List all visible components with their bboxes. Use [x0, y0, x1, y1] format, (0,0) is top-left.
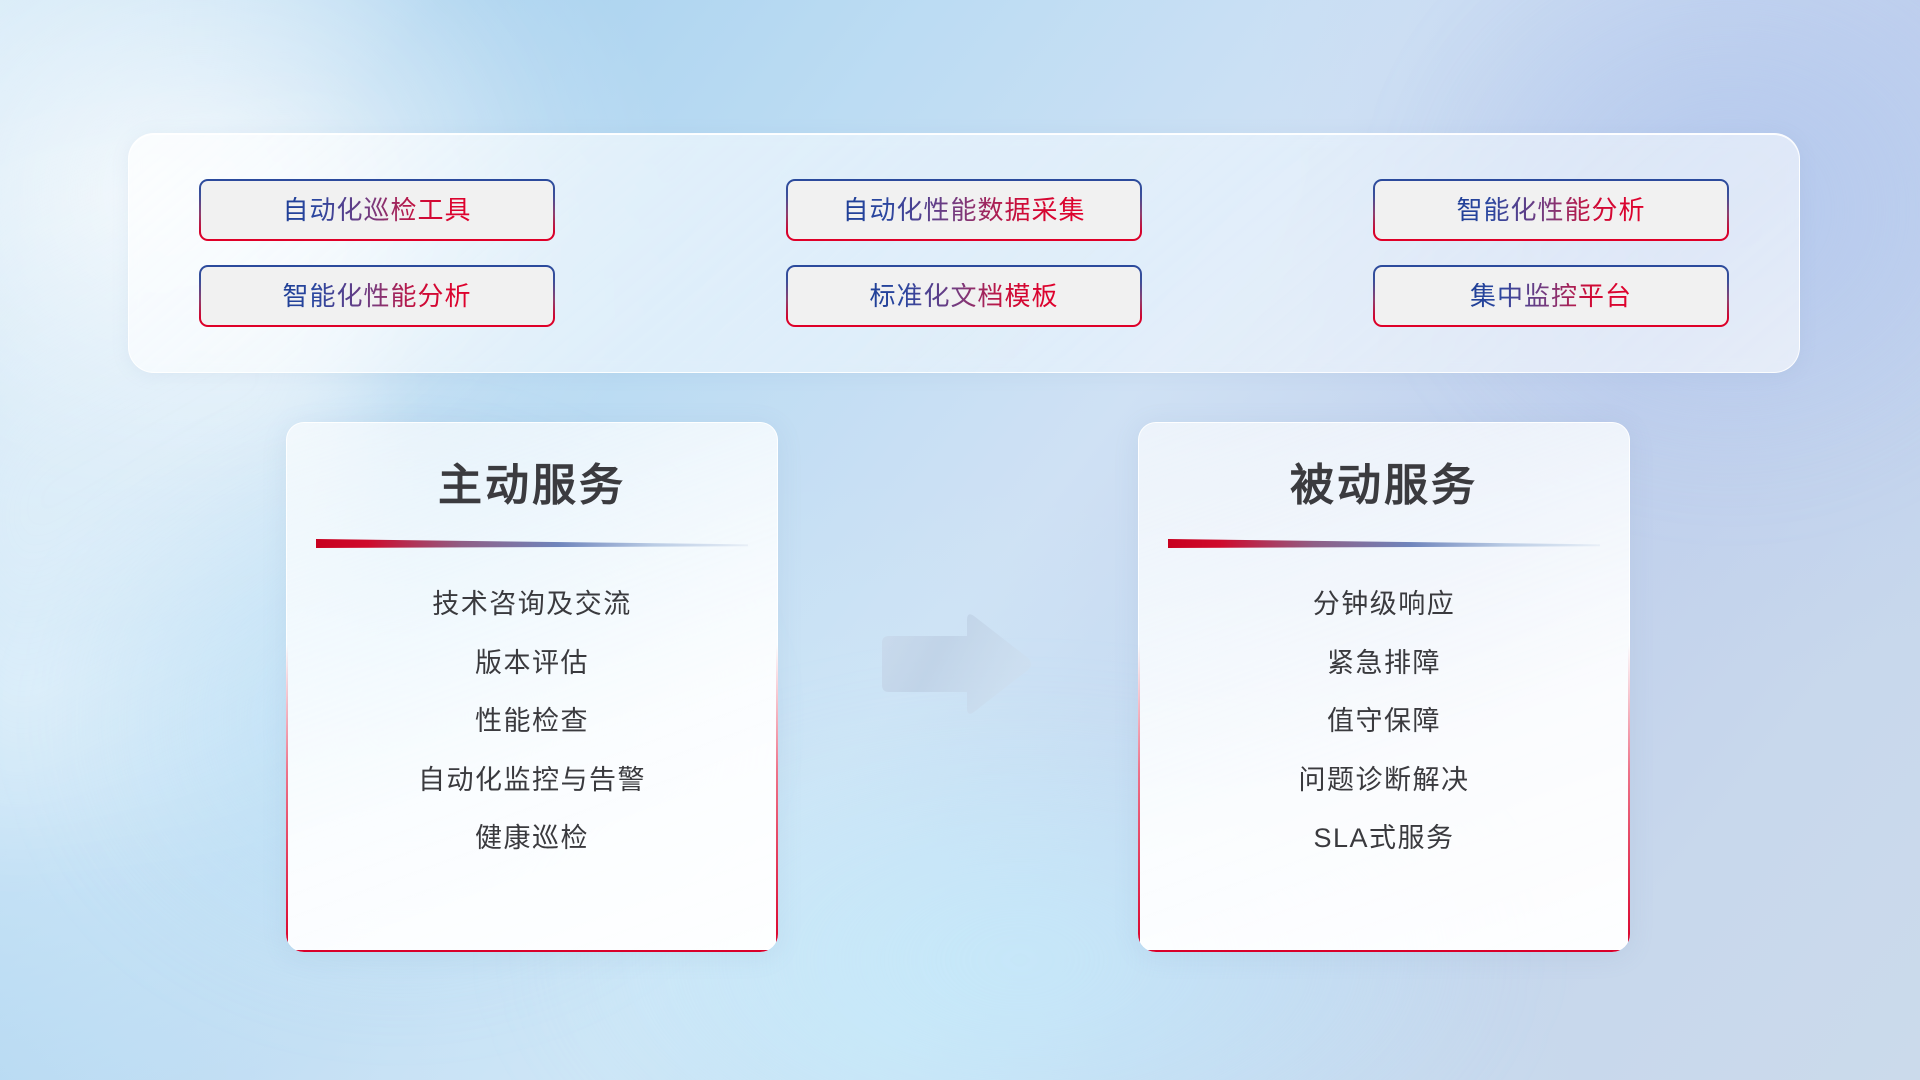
capability-tag-row-1: 自动化巡检工具 自动化性能数据采集 智能化性能分析 — [199, 179, 1729, 241]
service-card-title: 主动服务 — [438, 462, 626, 510]
service-item: 值守保障 — [1327, 705, 1441, 737]
service-card-proactive: 主动服务 技术咨询及交流 版本评估 性能检查 — [286, 422, 778, 952]
service-item: 问题诊断解决 — [1299, 764, 1470, 796]
title-divider-icon — [316, 536, 748, 550]
capability-tag-label: 自动化性能数据采集 — [842, 197, 1085, 223]
card-accent-edge-left — [286, 422, 288, 952]
service-item: 自动化监控与告警 — [418, 764, 646, 796]
card-accent-edge-bottom — [286, 950, 778, 952]
capability-tags-panel: 自动化巡检工具 自动化性能数据采集 智能化性能分析 智能化性能分析 标准化文档模… — [128, 133, 1800, 373]
capability-tag-label: 智能化性能分析 — [282, 283, 471, 309]
capability-tag-standard-document-template[interactable]: 标准化文档模板 — [786, 265, 1142, 327]
capability-tag-label: 自动化巡检工具 — [282, 197, 471, 223]
service-item: 分钟级响应 — [1313, 588, 1456, 620]
card-accent-edge-left — [1138, 422, 1140, 952]
arrow-right-icon — [874, 610, 1034, 720]
capability-tag-automated-performance-data-collection[interactable]: 自动化性能数据采集 — [786, 179, 1142, 241]
service-item: 版本评估 — [475, 647, 589, 679]
card-accent-edge-bottom — [1138, 950, 1630, 952]
card-accent-edge-right — [1628, 422, 1630, 952]
capability-tag-centralized-monitoring-platform[interactable]: 集中监控平台 — [1373, 265, 1729, 327]
service-item: 技术咨询及交流 — [432, 588, 632, 620]
capability-tag-label: 标准化文档模板 — [869, 283, 1058, 309]
service-card-title: 被动服务 — [1290, 462, 1478, 510]
service-item: 性能检查 — [475, 705, 589, 737]
title-divider-icon — [1168, 536, 1600, 550]
service-item: 健康巡检 — [475, 822, 589, 854]
service-item: SLA式服务 — [1313, 822, 1454, 854]
diagram-canvas: 自动化巡检工具 自动化性能数据采集 智能化性能分析 智能化性能分析 标准化文档模… — [0, 0, 1920, 1080]
service-item: 紧急排障 — [1327, 647, 1441, 679]
capability-tag-automated-inspection-tool[interactable]: 自动化巡检工具 — [199, 179, 555, 241]
service-item-list: 分钟级响应 紧急排障 值守保障 问题诊断解决 SLA式服务 — [1168, 588, 1600, 854]
capability-tag-row-2: 智能化性能分析 标准化文档模板 集中监控平台 — [199, 265, 1729, 327]
capability-tag-intelligent-performance-analysis-1[interactable]: 智能化性能分析 — [1373, 179, 1729, 241]
service-card-reactive: 被动服务 分钟级响应 紧急排障 值守保障 — [1138, 422, 1630, 952]
capability-tag-label: 集中监控平台 — [1470, 283, 1632, 309]
service-item-list: 技术咨询及交流 版本评估 性能检查 自动化监控与告警 健康巡检 — [316, 588, 748, 854]
capability-tag-intelligent-performance-analysis-2[interactable]: 智能化性能分析 — [199, 265, 555, 327]
capability-tag-label: 智能化性能分析 — [1456, 197, 1645, 223]
card-accent-edge-right — [776, 422, 778, 952]
